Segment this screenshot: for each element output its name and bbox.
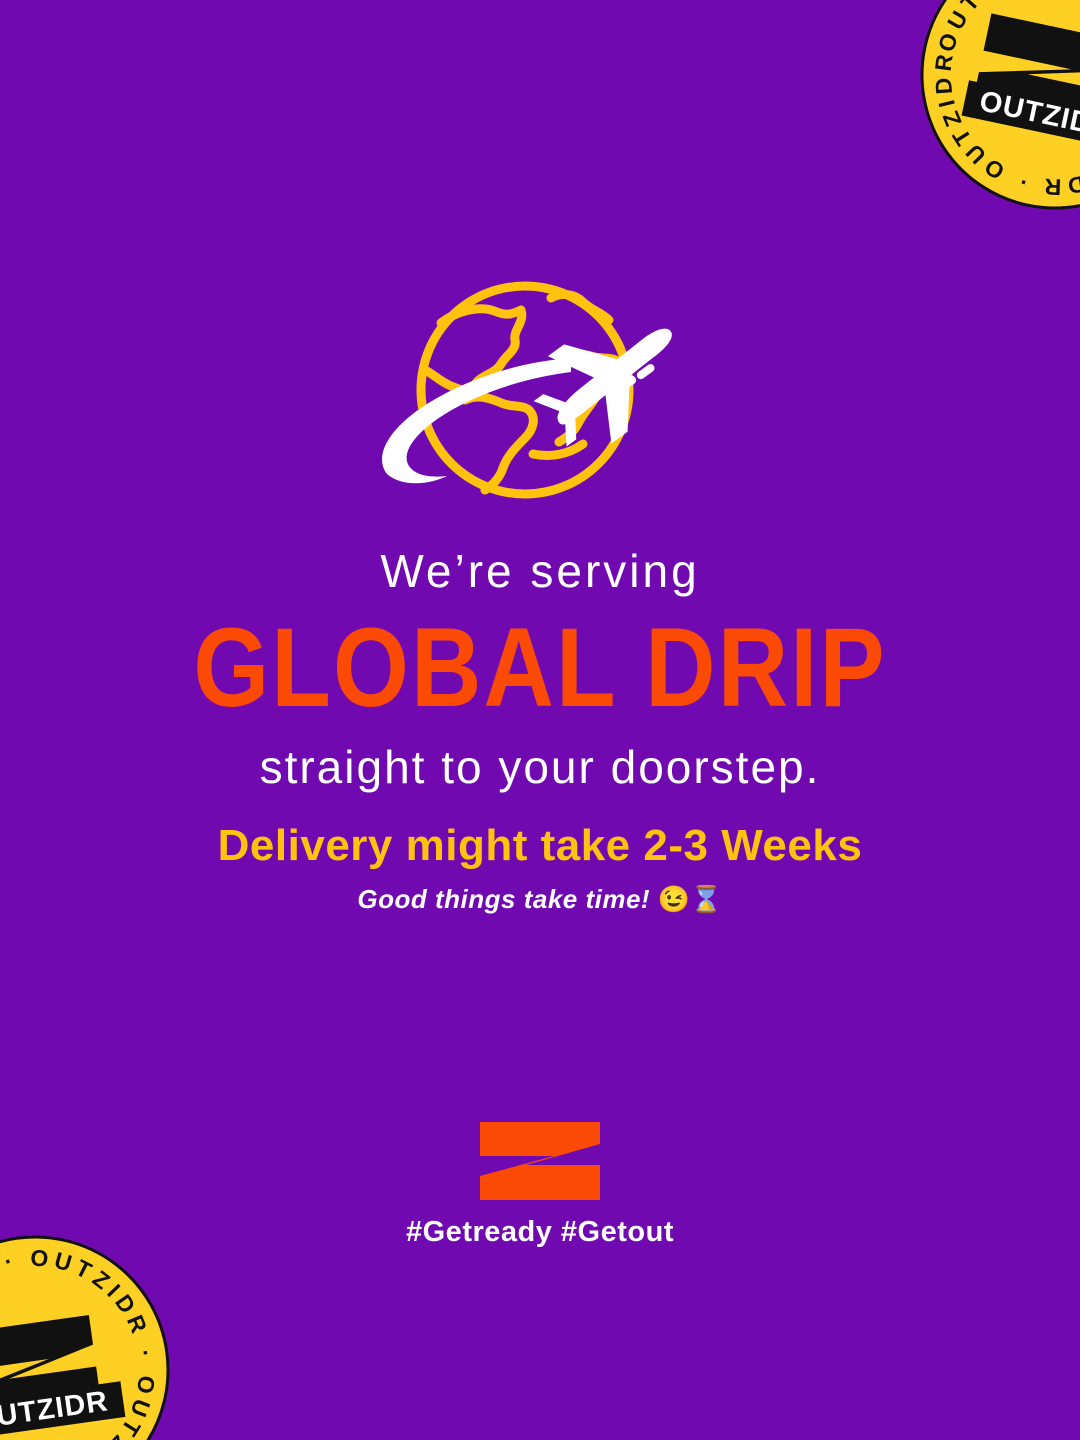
- promo-poster: OUTZIDR · OUTZIDR · OUTZIDR · OUTZIDR · …: [0, 0, 1080, 1440]
- headline-line-1: We’re serving: [0, 548, 1080, 594]
- wink-hourglass-emoji: 😉⌛: [658, 884, 723, 914]
- footer-brand-block: #Getready #Getout: [0, 1120, 1080, 1249]
- outzidr-sticker-badge-bottom-left: OUTZIDR · OUTZIDR · OUTZIDR · OUTZIDR · …: [0, 1218, 187, 1440]
- delivery-subtext-label: Good things take time!: [357, 884, 657, 914]
- delivery-note-block: Delivery might take 2-3 Weeks Good thing…: [0, 822, 1080, 916]
- delivery-subtext: Good things take time! 😉⌛: [0, 884, 1080, 915]
- globe-airplane-emblem: [365, 278, 715, 503]
- outzidr-sticker-badge-top-right: OUTZIDR · OUTZIDR · OUTZIDR · OUTZIDR · …: [895, 0, 1080, 235]
- headline-line-3: straight to your doorstep.: [0, 744, 1080, 790]
- headline-block: We’re serving GLOBAL DRIP straight to yo…: [0, 548, 1080, 790]
- hashtags-text: #Getready #Getout: [0, 1216, 1080, 1249]
- delivery-time-text: Delivery might take 2-3 Weeks: [0, 822, 1080, 870]
- headline-line-2: GLOBAL DRIP: [0, 612, 1080, 724]
- outzidr-z-logo: [478, 1120, 602, 1202]
